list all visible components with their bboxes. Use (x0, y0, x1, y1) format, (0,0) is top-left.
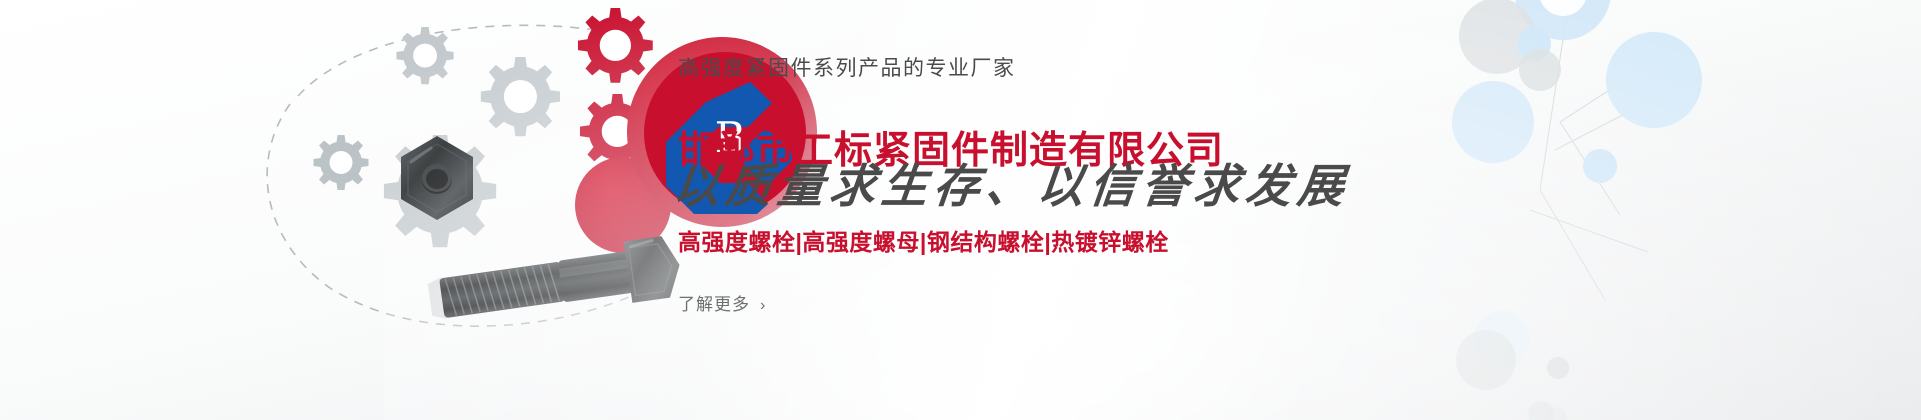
learn-more-link[interactable]: 了解更多› (678, 290, 766, 315)
dashed-orbit-path (267, 25, 640, 326)
calligraphy-slogan: 以质量求生存、以信誉求发展 (671, 150, 1354, 216)
gray-gear-icon (384, 135, 496, 247)
hex-bolt-icon (426, 234, 684, 330)
learn-more-label: 了解更多 (678, 295, 750, 314)
gray-gear-icon (481, 57, 560, 136)
network-lines (1530, 0, 1700, 300)
chevron-right-icon: › (760, 297, 766, 314)
hex-nut-icon (401, 136, 473, 220)
gray-gear-icon (314, 135, 369, 190)
gray-gear-icon (396, 27, 453, 84)
hero-banner: B 高强度紧固件系列产品的专业厂家 邯郸市工标紧固件制造有限公司 以质量求生存、… (0, 0, 1921, 420)
gray-gear-icon (596, 189, 651, 244)
banner-copy: 高强度紧固件系列产品的专业厂家 邯郸市工标紧固件制造有限公司 以质量求生存、以信… (678, 0, 1498, 420)
product-keywords: 高强度螺栓|高强度螺母|钢结构螺栓|热镀锌螺栓 (678, 223, 1169, 257)
red-gear-icon (578, 8, 653, 83)
banner-tagline: 高强度紧固件系列产品的专业厂家 (678, 52, 1016, 82)
